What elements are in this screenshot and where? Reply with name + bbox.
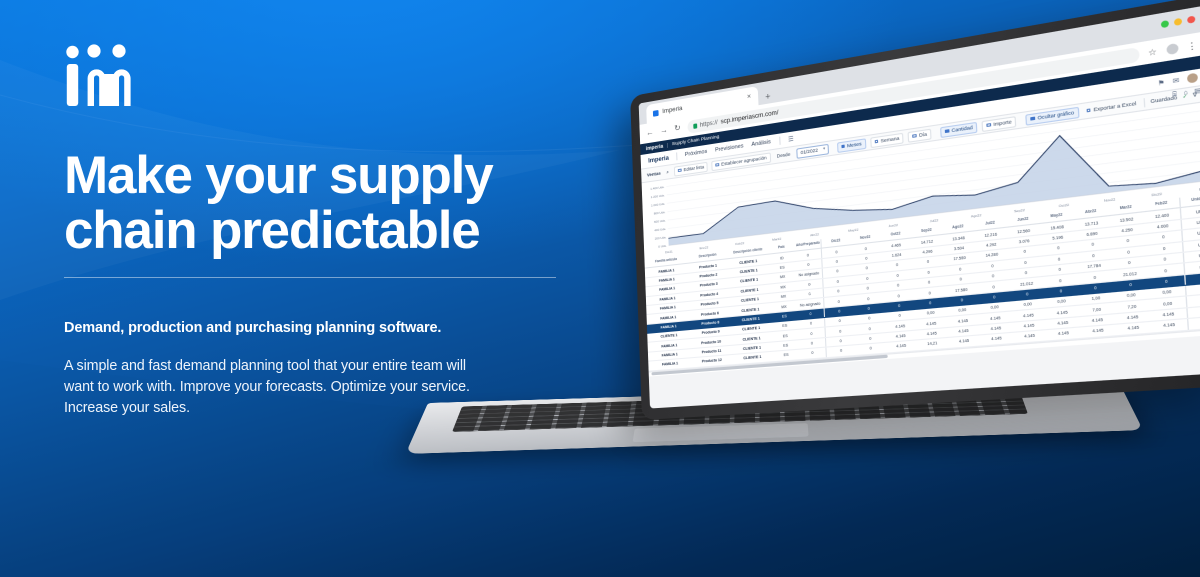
svg-text:800 Uds.: 800 Uds. xyxy=(654,210,666,216)
svg-text:200 Uds.: 200 Uds. xyxy=(655,235,667,240)
svg-text:Nov22: Nov22 xyxy=(1104,197,1116,203)
svg-text:Oct22: Oct22 xyxy=(1059,203,1070,209)
view-week-label: Semana xyxy=(881,135,900,143)
window-controls[interactable] xyxy=(1161,15,1196,28)
window-minimize-icon[interactable] xyxy=(1174,18,1182,26)
chart-y-axis: 0 Uds.200 Uds.400 Uds.600 Uds.800 Uds.1.… xyxy=(650,185,667,250)
nav-divider xyxy=(676,152,677,160)
edit-list-label: Editar lista xyxy=(683,164,704,172)
calendar-week-icon xyxy=(874,139,878,143)
amount-icon xyxy=(987,123,991,128)
nav-divider-2 xyxy=(779,137,780,145)
forward-icon[interactable]: → xyxy=(660,126,668,135)
svg-text:400 Uds.: 400 Uds. xyxy=(654,227,666,232)
new-tab-icon[interactable]: + xyxy=(765,91,771,104)
svg-text:Dic21: Dic21 xyxy=(665,250,673,255)
user-avatar[interactable] xyxy=(1187,73,1198,84)
laptop-trackpad xyxy=(632,423,809,442)
view-day-button[interactable]: Día xyxy=(908,128,932,142)
excel-icon xyxy=(1086,108,1091,113)
close-icon[interactable]: × xyxy=(747,93,751,101)
svg-text:Ene22: Ene22 xyxy=(699,245,708,250)
app-brand: imperia xyxy=(646,143,663,152)
date-filter-label: Desde xyxy=(775,150,793,161)
svg-text:May22: May22 xyxy=(848,228,859,234)
laptop-mockup: Imperia × + ← → ↻ htt xyxy=(420,78,1200,518)
chart-icon[interactable]: ▤ xyxy=(1194,87,1200,96)
imperia-logo-icon xyxy=(64,44,138,106)
nav-right-group: ⚑ ✉ xyxy=(1157,73,1198,88)
svg-text:600 Uds.: 600 Uds. xyxy=(654,218,666,224)
brand-separator: | xyxy=(667,142,669,148)
svg-text:0 Uds.: 0 Uds. xyxy=(658,244,667,249)
metric-quantity-label: Cantidad xyxy=(951,125,972,134)
flag-icon[interactable]: ⚑ xyxy=(1157,78,1165,87)
hide-chart-label: Ocultar gráfico xyxy=(1037,110,1074,121)
grid-menu-icon[interactable]: ☰ xyxy=(788,135,794,143)
table-cell[interactable]: KG xyxy=(1186,293,1200,307)
calendar-day-icon xyxy=(913,134,917,138)
bell-icon[interactable]: ✉ xyxy=(1172,76,1179,85)
toolbar-title: Ventas xyxy=(647,171,661,178)
export-excel-label: Exportar a Excel xyxy=(1093,101,1136,113)
svg-text:1.200 Uds.: 1.200 Uds. xyxy=(651,193,665,199)
table-view-icon[interactable]: ⌸ xyxy=(1172,91,1177,100)
calendar-month-icon xyxy=(841,144,845,148)
url-host: scp.imperiascm.com/ xyxy=(721,109,779,125)
view-months-label: Meses xyxy=(847,141,862,148)
svg-text:1.000 Uds.: 1.000 Uds. xyxy=(651,202,665,208)
nav-brand: Imperia xyxy=(648,154,669,164)
svg-text:1.400 Uds.: 1.400 Uds. xyxy=(650,185,664,191)
svg-text:Dic22: Dic22 xyxy=(1151,192,1162,198)
reload-icon[interactable]: ↻ xyxy=(674,124,681,133)
svg-text:Mar22: Mar22 xyxy=(772,237,782,242)
quantity-icon xyxy=(945,129,949,133)
view-day-label: Día xyxy=(919,131,927,138)
favicon-icon xyxy=(653,109,659,116)
svg-text:Feb22: Feb22 xyxy=(735,241,744,246)
svg-text:Jul22: Jul22 xyxy=(930,218,939,223)
view-months-button[interactable]: Meses xyxy=(837,138,867,153)
set-grouping-label: Establecer agrupación xyxy=(721,155,767,167)
tab-title: Imperia xyxy=(662,105,682,115)
browser-menu-icon[interactable]: ⋮ xyxy=(1187,39,1198,51)
nav-item-proximos[interactable]: Próximos xyxy=(685,149,708,158)
toolbar-divider-3 xyxy=(1021,116,1022,125)
toolbar-divider-4 xyxy=(1144,97,1146,106)
grouping-icon xyxy=(716,163,720,167)
hide-chart-icon xyxy=(1031,116,1036,121)
svg-text:Abr22: Abr22 xyxy=(810,232,819,237)
home-icon[interactable]: ⌂ xyxy=(1183,89,1188,98)
lock-icon xyxy=(693,123,697,129)
window-close-icon[interactable] xyxy=(1187,15,1195,23)
table-cell[interactable]: KG xyxy=(1187,316,1200,330)
window-maximize-icon[interactable] xyxy=(1161,20,1169,28)
back-icon[interactable]: ← xyxy=(646,128,654,137)
star-icon[interactable]: ☆ xyxy=(1148,46,1157,58)
table-cell[interactable]: KG xyxy=(1187,305,1200,319)
nav-item-analisis[interactable]: Análisis xyxy=(751,139,771,148)
svg-text:Ago22: Ago22 xyxy=(971,213,982,219)
nav-item-previsiones[interactable]: Previsiones xyxy=(715,143,744,153)
list-icon xyxy=(678,168,682,172)
profile-avatar[interactable] xyxy=(1166,42,1178,54)
metric-amount-label: Importe xyxy=(993,119,1012,127)
url-scheme: https:// xyxy=(700,119,718,129)
table-cell[interactable]: KG xyxy=(1185,282,1200,296)
svg-text:Jun22: Jun22 xyxy=(888,223,898,228)
svg-text:Sep22: Sep22 xyxy=(1014,208,1026,214)
search-icon[interactable]: ⌕ xyxy=(664,168,670,177)
